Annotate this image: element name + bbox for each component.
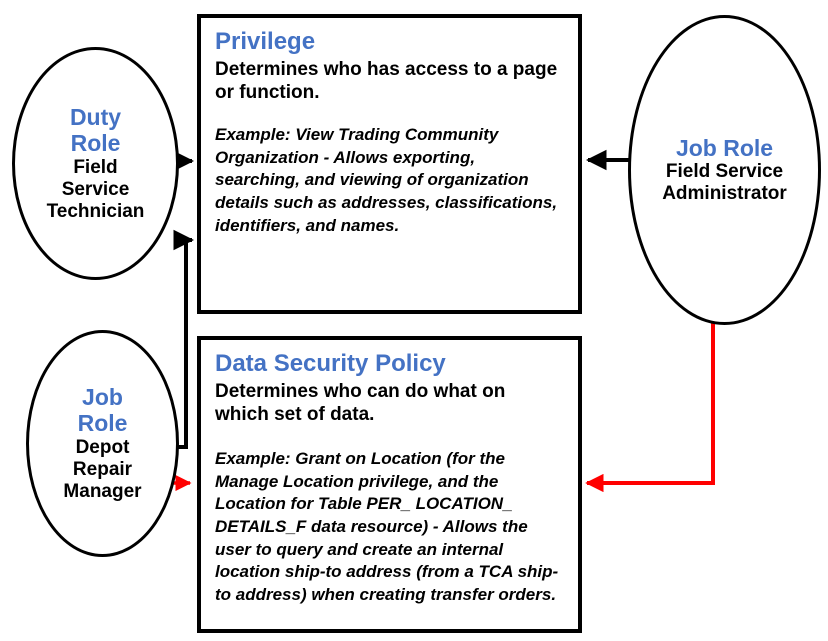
privilege-title: Privilege: [215, 28, 564, 57]
data-security-policy-example: Example: Grant on Location (for the Mana…: [215, 448, 564, 606]
node-privilege[interactable]: Privilege Determines who has access to a…: [197, 14, 582, 314]
diagram-canvas: Duty Role Field Service Technician Job R…: [0, 0, 828, 641]
job-role-right-title: Job Role: [676, 135, 773, 162]
duty-role-title: Duty Role: [70, 104, 121, 157]
duty-role-subtitle: Field Service Technician: [47, 157, 145, 223]
job-role-left-title-line1: Job: [78, 384, 128, 411]
job-role-right-subtitle: Field Service Administrator: [662, 161, 787, 205]
duty-role-title-line1: Duty: [70, 104, 121, 131]
duty-role-subtitle-line1: Field: [47, 157, 145, 179]
connector-job-role-right-to-data-security-policy: [587, 313, 713, 483]
job-role-left-subtitle: Depot Repair Manager: [63, 437, 141, 503]
node-data-security-policy[interactable]: Data Security Policy Determines who can …: [197, 336, 582, 633]
duty-role-title-line2: Role: [70, 130, 121, 157]
job-role-left-subtitle-line3: Manager: [63, 481, 141, 503]
job-role-left-title: Job Role: [78, 384, 128, 437]
data-security-policy-title: Data Security Policy: [215, 350, 564, 379]
node-job-role-depot-repair-manager[interactable]: Job Role Depot Repair Manager: [26, 330, 179, 557]
job-role-right-subtitle-line2: Administrator: [662, 183, 787, 205]
data-security-policy-description: Determines who can do what on which set …: [215, 380, 564, 426]
node-job-role-field-service-administrator[interactable]: Job Role Field Service Administrator: [628, 15, 821, 325]
node-duty-role[interactable]: Duty Role Field Service Technician: [12, 47, 179, 280]
privilege-example: Example: View Trading Community Organiza…: [215, 124, 564, 237]
job-role-right-subtitle-line1: Field Service: [662, 161, 787, 183]
job-role-left-title-line2: Role: [78, 410, 128, 437]
duty-role-subtitle-line2: Service: [47, 179, 145, 201]
privilege-description: Determines who has access to a page or f…: [215, 58, 564, 104]
job-role-left-subtitle-line1: Depot: [63, 437, 141, 459]
duty-role-subtitle-line3: Technician: [47, 201, 145, 223]
job-role-left-subtitle-line2: Repair: [63, 459, 141, 481]
